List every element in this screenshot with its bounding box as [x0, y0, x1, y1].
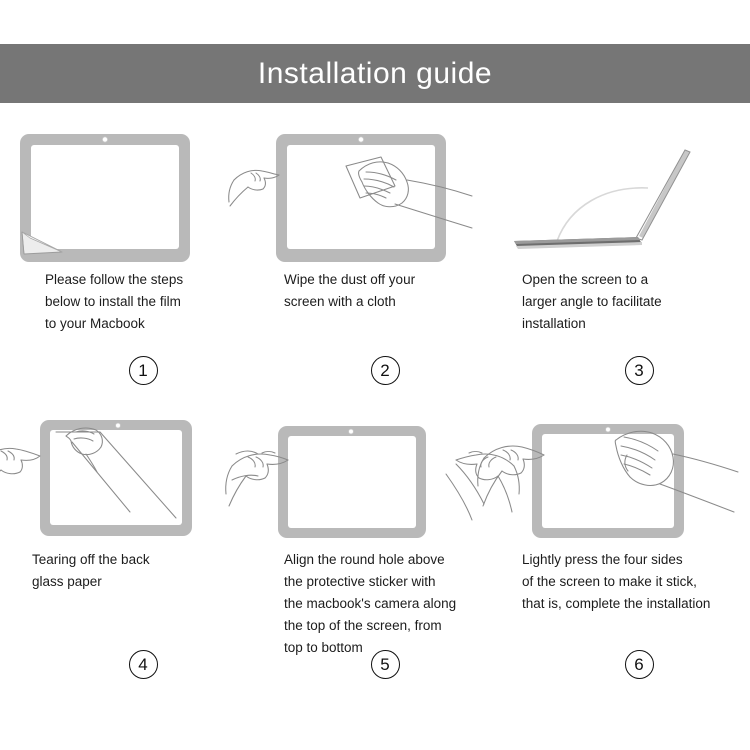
- header-banner: Installation guide: [0, 44, 750, 103]
- step-caption: Tearing off the back glass paper: [0, 549, 250, 593]
- step-number-value: 3: [625, 356, 654, 385]
- figure-two-hands-aligning-film: [250, 408, 500, 543]
- step-number-badge: 3: [500, 356, 750, 385]
- step-number-value: 1: [129, 356, 158, 385]
- figure-hand-tearing-backing-paper: [0, 408, 250, 543]
- step-number-badge: 4: [0, 650, 268, 679]
- step-panel-6: Lightly press the four sides of the scre…: [500, 408, 750, 708]
- figure-laptop-opened-side-view: [500, 128, 750, 263]
- step-number-value: 6: [625, 650, 654, 679]
- step-number-badge: 6: [500, 650, 750, 679]
- step-panel-2: Wipe the dust off your screen with a clo…: [250, 128, 500, 408]
- step-number-value: 2: [371, 356, 400, 385]
- step-panel-4: Tearing off the back glass paper 4: [0, 408, 250, 708]
- step-caption: Lightly press the four sides of the scre…: [500, 549, 750, 615]
- step-number-badge: 2: [250, 356, 510, 385]
- step-caption: Wipe the dust off your screen with a clo…: [250, 269, 500, 313]
- step-number-badge: 5: [250, 650, 510, 679]
- step-panel-3: Open the screen to a larger angle to fac…: [500, 128, 750, 408]
- figure-hands-wiping-screen-with-cloth: [250, 128, 500, 263]
- page-title: Installation guide: [258, 59, 492, 89]
- step-number-value: 4: [129, 650, 158, 679]
- figure-hands-pressing-film-edges: [500, 408, 750, 543]
- step-panel-5: Align the round hole above the protectiv…: [250, 408, 500, 708]
- installation-steps-grid: Please follow the steps below to install…: [0, 128, 750, 708]
- step-caption: Open the screen to a larger angle to fac…: [500, 269, 750, 335]
- step-caption: Align the round hole above the protectiv…: [250, 549, 500, 659]
- step-panel-1: Please follow the steps below to install…: [0, 128, 250, 408]
- step-number-value: 5: [371, 650, 400, 679]
- figure-screen-with-peeling-film-corner: [0, 128, 250, 263]
- step-number-badge: 1: [0, 356, 268, 385]
- step-caption: Please follow the steps below to install…: [0, 269, 250, 335]
